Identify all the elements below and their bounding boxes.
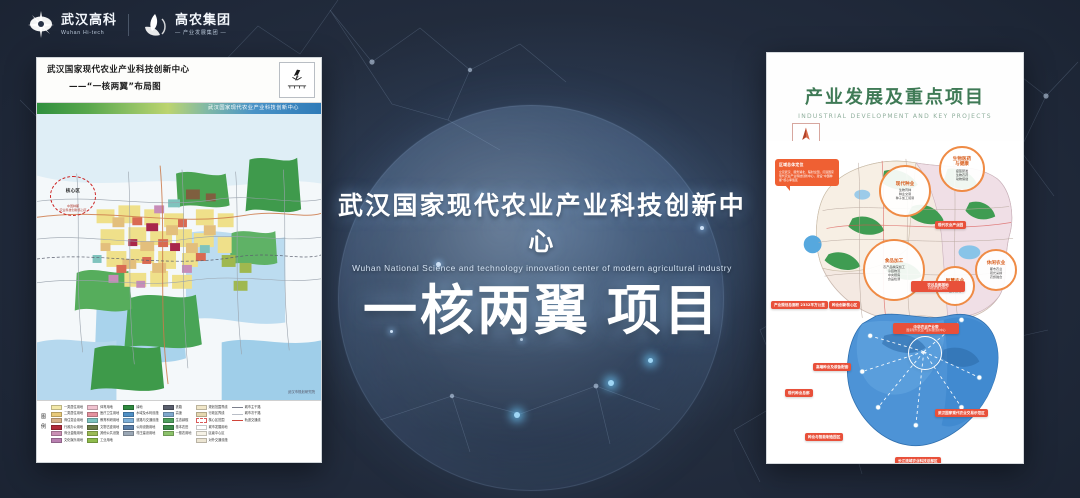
legend-item: 其他公共设施 — [87, 431, 119, 436]
legend-label: 水域及水利设施 — [136, 412, 158, 415]
slide-canvas: 武汉高科 Wuhan Hi-tech 高农集团 — 产业发展集团 — 武汉国家现… — [0, 0, 1080, 498]
band-caption: 武汉国家现代农业产业科技创新中心 — [208, 104, 299, 111]
legend-swatch — [123, 418, 134, 423]
legend-label: 铁路 — [176, 406, 182, 409]
bubble-title: 休闲农业 — [987, 261, 1005, 267]
legend-swatch — [163, 405, 174, 410]
headline: 一核两翼项目 — [336, 283, 748, 339]
legend-swatch — [196, 405, 207, 410]
left-plan-document[interactable]: 武汉国家现代农业产业科技创新中心 ——“一核两翼”布局图 武汉国家现代农 — [36, 57, 322, 463]
legend-swatch — [51, 405, 62, 410]
map-source-note: 武汉市规划研究院 — [288, 389, 315, 394]
legend-label: 城市主干路 — [245, 406, 261, 409]
legend-label: 工业用地 — [100, 439, 113, 442]
legend-swatch — [163, 431, 174, 436]
right-project-poster[interactable]: 产业发展及重点项目 INDUSTRIAL DEVELOPMENT AND KEY… — [766, 52, 1024, 464]
legend-item: 医疗卫生用地 — [87, 412, 119, 417]
legend-item: 规划范围界线 — [196, 405, 228, 410]
legend-swatch — [87, 438, 98, 443]
legend-item: 文化娱乐用地 — [51, 438, 83, 443]
legend-item: 生态绿楔 — [163, 418, 192, 423]
legend-item: 城市发展用地 — [196, 425, 228, 430]
map-tag[interactable]: 产业规划总面积 2332平方公里 — [771, 301, 828, 309]
legend-label: 一般农用地 — [176, 432, 192, 435]
callout-heading: 区域总体定位 — [779, 162, 835, 168]
legend-swatch — [163, 425, 174, 430]
brand-name-cn: 高农集团 — [175, 14, 231, 28]
map-tag-sub: 国家现代农业产业科技创新中心 — [896, 329, 956, 333]
brand-bar: 武汉高科 Wuhan Hi-tech 高农集团 — 产业发展集团 — — [26, 6, 231, 44]
page-title: 武汉国家现代农业产业科技创新中心 — [336, 186, 748, 258]
bubble-body: 都市农业 观光采摘 农旅融合 — [990, 267, 1002, 279]
legend-swatch — [51, 438, 62, 443]
legend-swatch — [51, 425, 62, 430]
legend-item: 一类居住用地 — [51, 405, 83, 410]
map-tag[interactable]: 现代农业产业园 — [935, 221, 966, 229]
legend-column: 体育用地 医疗卫生用地 教育科研用地 文物古迹用地 其他公共设施 工业用地 — [87, 405, 119, 443]
legend-label: 商住混合用地 — [64, 419, 83, 422]
legend-line-swatch — [232, 405, 243, 410]
region-positioning-callout[interactable]: 区域总体定位 立足武汉、服务湖北、辐射全国，打造国家现代农业产业科技创新中心，建… — [775, 159, 839, 186]
legend-item: 二类居住用地 — [51, 412, 83, 417]
legend-column: 城市主干路 城市次干路 轨道交通线 — [232, 405, 261, 443]
legend-columns: 一类居住用地 二类居住用地 商住混合用地 行政办公用地 商业金融用地 文化娱乐用… — [51, 405, 316, 443]
industry-bubble-seed[interactable]: 现代种业 生物育种 种业交易 种子加工贸易 — [879, 165, 931, 217]
legend-line-swatch — [232, 418, 243, 423]
legend-swatch — [87, 431, 98, 436]
legend-swatch — [196, 425, 207, 430]
core-zone-sublabel: 中国种都 农业科技创新核心区 — [53, 204, 93, 212]
legend-item: 一般农用地 — [163, 431, 192, 436]
legend-item: 商业金融用地 — [51, 431, 83, 436]
map-tag-core[interactable]: 中华农谷产业带 国家现代农业产业科技创新中心 — [893, 323, 959, 334]
legend-item: 行政区界线 — [196, 412, 228, 417]
legend-item: 文物古迹用地 — [87, 425, 119, 430]
legend-item: 城市次干路 — [232, 412, 261, 417]
legend-item: 城市主干路 — [232, 405, 261, 410]
legend-label: 城市次干路 — [245, 412, 261, 415]
center-title-block: 武汉国家现代农业产业科技创新中心 Wuhan National Science … — [336, 186, 748, 339]
legend-swatch — [196, 431, 207, 436]
legend-item: 商住混合用地 — [51, 418, 83, 423]
legend-label: 商业金融用地 — [64, 432, 83, 435]
legend-label: 二类居住用地 — [64, 412, 83, 415]
legend-label: 一类居住用地 — [64, 406, 83, 409]
callout-body: 立足武汉、服务湖北、辐射全国，打造国家现代农业产业科技创新中心，建设“中国种都”… — [779, 170, 835, 183]
legend-label: 核心区范围 — [209, 419, 225, 422]
legend-swatch — [51, 412, 62, 417]
bubble-body: 农产品精深加工 冷链物流 中央厨房 食品检测 — [883, 265, 905, 281]
brand-divider — [128, 14, 129, 36]
legend-swatch — [196, 412, 207, 417]
particle — [608, 380, 614, 386]
legend-title: 图 例 — [41, 413, 46, 432]
legend-item: 轨道交通线 — [232, 418, 261, 423]
legend-swatch — [123, 405, 134, 410]
legend-swatch — [163, 418, 174, 423]
brand-gaonong-group[interactable]: 高农集团 — 产业发展集团 — — [140, 10, 231, 40]
legend-label: 医疗卫生用地 — [100, 412, 119, 415]
legend-label: 对外交通设施 — [209, 439, 228, 442]
map-tag[interactable]: 种业创新核心区 — [829, 301, 860, 309]
legend-item: 区级中心区 — [196, 431, 228, 436]
core-highlight-ring — [908, 336, 942, 370]
legend-label: 基本农田 — [176, 426, 189, 429]
legend-swatch — [163, 412, 174, 417]
legend-item: 铁路 — [163, 405, 192, 410]
legend-label: 城市发展用地 — [209, 426, 228, 429]
bubble-title: 生物医药 与健康 — [953, 157, 971, 168]
legend-item: 基本农田 — [163, 425, 192, 430]
right-doc-title: 产业发展及重点项目 — [767, 83, 1023, 109]
map-tag[interactable]: 种业与智能制造园区 — [805, 433, 843, 441]
legend-label: 轨道交通线 — [245, 419, 261, 422]
legend-swatch — [123, 431, 134, 436]
map-tag[interactable]: 高端种业及装备配套 — [813, 363, 851, 371]
left-doc-title-line1: 武汉国家现代农业产业科技创新中心 — [47, 63, 277, 75]
legend-label: 行政区界线 — [209, 412, 225, 415]
legend-item: 水域及水利设施 — [123, 412, 158, 417]
legend-item: 道路与交通设施 — [123, 418, 158, 423]
particle — [648, 358, 653, 363]
brand-name-cn: 武汉高科 — [61, 14, 117, 28]
particle — [514, 412, 520, 418]
map-tag[interactable]: 武汉国家现代农业交易示范区 — [935, 409, 988, 417]
map-legend: 图 例 一类居住用地 二类居住用地 商住混合用地 行政办公用地 商业金融用地 文… — [37, 400, 321, 462]
legend-column: 一类居住用地 二类居住用地 商住混合用地 行政办公用地 商业金融用地 文化娱乐用… — [51, 405, 83, 443]
left-doc-header: 武汉国家现代农业产业科技创新中心 ——“一核两翼”布局图 — [37, 58, 321, 103]
legend-swatch — [87, 418, 98, 423]
institute-emblem-icon — [279, 62, 315, 98]
map-tag[interactable]: 现代种业总部 — [785, 389, 813, 397]
bubble-body: 疫苗研发 生物农药 动物保健 — [956, 169, 968, 181]
leaf-logo-icon — [140, 10, 170, 40]
legend-item: 公用设施用地 — [123, 425, 158, 430]
compass-star-logo-icon — [26, 10, 56, 40]
legend-item: 对外交通设施 — [196, 438, 228, 443]
legend-label: 绿地 — [136, 406, 142, 409]
legend-label: 行政办公用地 — [64, 426, 83, 429]
legend-swatch — [87, 405, 98, 410]
legend-item: 核心区范围 — [196, 418, 228, 423]
legend-swatch — [196, 438, 207, 443]
legend-swatch — [51, 418, 62, 423]
map-tag-hq[interactable]: 农谷总部基地 科技研发及孵化 — [911, 281, 965, 292]
legend-item: 行政办公用地 — [51, 425, 83, 430]
industry-bubble-biomed[interactable]: 生物医药 与健康 疫苗研发 生物农药 动物保健 — [939, 146, 985, 192]
headline-left: 一核两翼 — [363, 279, 591, 342]
brand-wuhan-hitech[interactable]: 武汉高科 Wuhan Hi-tech — [26, 10, 117, 40]
left-doc-color-band: 武汉国家现代农业产业科技创新中心 — [37, 103, 321, 114]
brand-name-en: — 产业发展集团 — — [175, 29, 231, 36]
legend-swatch — [196, 418, 207, 423]
map-tag[interactable]: 长江流域农业科技总部区 — [895, 457, 941, 464]
legend-label: 高速 — [176, 412, 182, 415]
legend-label: 体育用地 — [100, 406, 113, 409]
legend-line-swatch — [232, 412, 243, 417]
legend-label: 道路与交通设施 — [136, 419, 158, 422]
legend-item: 工业用地 — [87, 438, 119, 443]
left-landuse-map[interactable]: 核心区 中国种都 农业科技创新核心区 武汉市规划研究院 — [37, 114, 321, 400]
industry-bubble-leisure[interactable]: 休闲农业 都市农业 观光采摘 农旅融合 — [975, 249, 1017, 291]
legend-column: 铁路 高速 生态绿楔 基本农田 一般农用地 — [163, 405, 192, 443]
legend-label: 生态绿楔 — [176, 419, 189, 422]
brand-name-en: Wuhan Hi-tech — [61, 30, 117, 36]
legend-item: 体育用地 — [87, 405, 119, 410]
right-doc-subtitle: INDUSTRIAL DEVELOPMENT AND KEY PROJECTS — [767, 113, 1023, 120]
legend-item: 村庄建设用地 — [123, 431, 158, 436]
legend-column: 规划范围界线 行政区界线 核心区范围 城市发展用地 区级中心区 对外交通设施 — [196, 405, 228, 443]
left-doc-title-line2: ——“一核两翼”布局图 — [47, 80, 277, 92]
legend-swatch — [87, 412, 98, 417]
legend-label: 村庄建设用地 — [136, 432, 155, 435]
page-subtitle-en: Wuhan National Science and technology in… — [336, 263, 748, 273]
legend-item: 教育科研用地 — [87, 418, 119, 423]
legend-label: 其他公共设施 — [100, 432, 119, 435]
bubble-body: 生物育种 种业交易 种子加工贸易 — [896, 188, 915, 200]
legend-column: 绿地 水域及水利设施 道路与交通设施 公用设施用地 村庄建设用地 — [123, 405, 158, 443]
legend-label: 区级中心区 — [209, 432, 225, 435]
legend-swatch — [123, 412, 134, 417]
bubble-title: 现代种业 — [896, 182, 914, 188]
legend-swatch — [123, 425, 134, 430]
headline-right: 项目 — [607, 279, 721, 342]
bubble-title: 食品加工 — [885, 259, 903, 265]
map-tag-sub: 科技研发及孵化 — [914, 287, 962, 291]
core-zone-label: 核心区 — [53, 188, 93, 194]
legend-label: 公用设施用地 — [136, 426, 155, 429]
right-industry-map[interactable]: 现代种业 生物育种 种业交易 种子加工贸易 生物医药 与健康 疫苗研发 生物农药… — [767, 141, 1023, 463]
legend-label: 规划范围界线 — [209, 406, 228, 409]
legend-item: 高速 — [163, 412, 192, 417]
legend-item: 绿地 — [123, 405, 158, 410]
legend-swatch — [51, 431, 62, 436]
legend-label: 文化娱乐用地 — [64, 439, 83, 442]
legend-label: 文物古迹用地 — [100, 426, 119, 429]
legend-swatch — [87, 425, 98, 430]
legend-label: 教育科研用地 — [100, 419, 119, 422]
